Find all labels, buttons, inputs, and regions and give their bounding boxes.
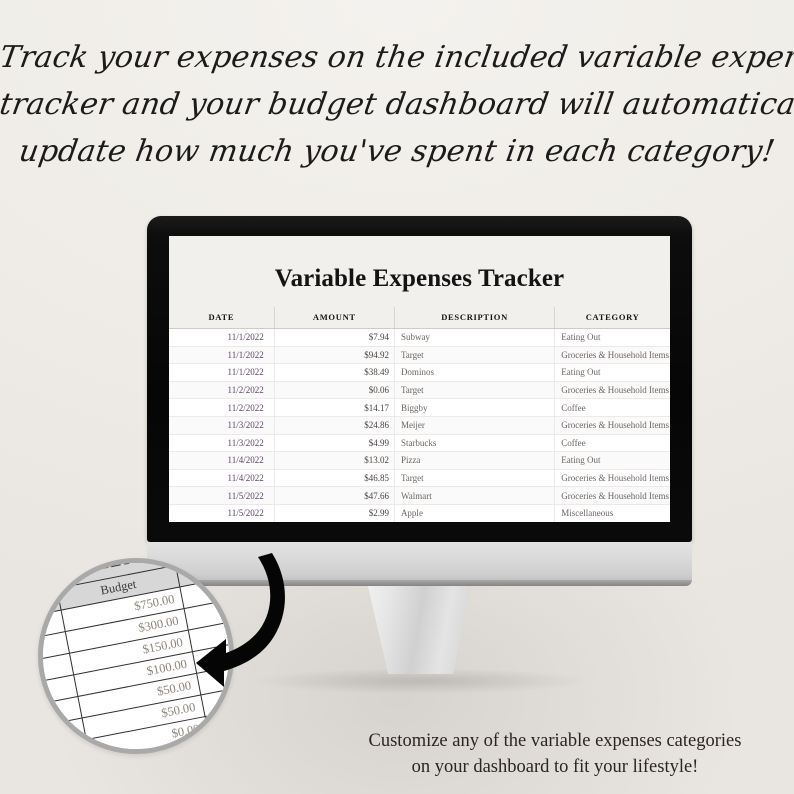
- table-row[interactable]: 11/5/2022$2.99AppleMiscellaneous: [169, 504, 670, 522]
- cell-description[interactable]: Target: [394, 469, 554, 487]
- cell-category[interactable]: Coffee: [555, 399, 670, 417]
- cell-date[interactable]: 11/3/2022: [169, 434, 274, 452]
- cell-description[interactable]: Walmart: [394, 487, 554, 505]
- cell-date[interactable]: 11/1/2022: [169, 364, 274, 382]
- monitor-bezel: Variable Expenses Tracker DATE AMOUNT DE…: [147, 216, 692, 542]
- desktop-monitor: Variable Expenses Tracker DATE AMOUNT DE…: [147, 216, 692, 586]
- cell-amount[interactable]: $14.17: [274, 399, 394, 417]
- table-row[interactable]: 11/2/2022$14.17BiggbyCoffee: [169, 399, 670, 417]
- expenses-table: DATE AMOUNT DESCRIPTION CATEGORY 11/1/20…: [169, 307, 670, 522]
- monitor-screen: Variable Expenses Tracker DATE AMOUNT DE…: [169, 236, 670, 522]
- table-header-row: DATE AMOUNT DESCRIPTION CATEGORY: [169, 307, 670, 329]
- cell-description[interactable]: Starbucks: [394, 434, 554, 452]
- table-row[interactable]: 11/4/2022$46.85TargetGroceries & Househo…: [169, 469, 670, 487]
- column-header-amount[interactable]: AMOUNT: [274, 307, 394, 329]
- cell-category[interactable]: Groceries & Household Items: [555, 381, 670, 399]
- cell-description[interactable]: Target: [394, 381, 554, 399]
- cell-description[interactable]: Apple: [394, 504, 554, 522]
- table-row[interactable]: 11/4/2022$13.02PizzaEating Out: [169, 452, 670, 470]
- cell-date[interactable]: 11/4/2022: [169, 469, 274, 487]
- cell-description[interactable]: Pizza: [394, 452, 554, 470]
- headline: Track your expenses on the included vari…: [0, 34, 794, 175]
- cell-date[interactable]: 11/2/2022: [169, 399, 274, 417]
- cell-amount[interactable]: $24.86: [274, 416, 394, 434]
- cell-description[interactable]: Subway: [394, 329, 554, 347]
- cell-category[interactable]: Eating Out: [555, 364, 670, 382]
- headline-line-1: Track your expenses on the included vari…: [0, 34, 794, 81]
- cell-category[interactable]: Coffee: [555, 434, 670, 452]
- cell-amount[interactable]: $2.99: [274, 504, 394, 522]
- cell-date[interactable]: 11/3/2022: [169, 416, 274, 434]
- table-row[interactable]: 11/1/2022$7.94SubwayEating Out: [169, 329, 670, 347]
- column-header-category[interactable]: CATEGORY: [555, 307, 670, 329]
- cell-description[interactable]: Target: [394, 346, 554, 364]
- cell-category[interactable]: Miscellaneous: [555, 504, 670, 522]
- cell-amount[interactable]: $0.06: [274, 381, 394, 399]
- cell-category[interactable]: Eating Out: [555, 452, 670, 470]
- cell-category[interactable]: Groceries & Household Items: [555, 346, 670, 364]
- cell-amount[interactable]: $94.92: [274, 346, 394, 364]
- cell-description[interactable]: Biggby: [394, 399, 554, 417]
- column-header-date[interactable]: DATE: [169, 307, 274, 329]
- cell-amount[interactable]: $7.94: [274, 329, 394, 347]
- cell-date[interactable]: 11/5/2022: [169, 487, 274, 505]
- curved-arrow-icon: [196, 543, 336, 713]
- cell-date[interactable]: 11/2/2022: [169, 381, 274, 399]
- cell-date[interactable]: 11/4/2022: [169, 452, 274, 470]
- page-title: Variable Expenses Tracker: [169, 236, 670, 307]
- table-row[interactable]: 11/3/2022$4.99StarbucksCoffee: [169, 434, 670, 452]
- cell-category[interactable]: Groceries & Household Items: [555, 416, 670, 434]
- cell-category[interactable]: Eating Out: [555, 329, 670, 347]
- cell-category[interactable]: Groceries & Household Items: [555, 487, 670, 505]
- spreadsheet: Variable Expenses Tracker DATE AMOUNT DE…: [169, 236, 670, 522]
- cell-amount[interactable]: $4.99: [274, 434, 394, 452]
- table-body: 11/1/2022$7.94SubwayEating Out11/1/2022$…: [169, 329, 670, 523]
- cell-date[interactable]: 11/1/2022: [169, 346, 274, 364]
- cell-description[interactable]: Meijer: [394, 416, 554, 434]
- cell-amount[interactable]: $38.49: [274, 364, 394, 382]
- cell-amount[interactable]: $13.02: [274, 452, 394, 470]
- column-header-description[interactable]: DESCRIPTION: [394, 307, 554, 329]
- cell-date[interactable]: 11/1/2022: [169, 329, 274, 347]
- cell-amount[interactable]: $47.66: [274, 487, 394, 505]
- table-row[interactable]: 11/1/2022$94.92TargetGroceries & Househo…: [169, 346, 670, 364]
- cell-description[interactable]: Dominos: [394, 364, 554, 382]
- table-row[interactable]: 11/1/2022$38.49DominosEating Out: [169, 364, 670, 382]
- table-row[interactable]: 11/5/2022$47.66WalmartGroceries & Househ…: [169, 487, 670, 505]
- table-row[interactable]: 11/2/2022$0.06TargetGroceries & Househol…: [169, 381, 670, 399]
- cell-amount[interactable]: $46.85: [274, 469, 394, 487]
- headline-line-2: tracker and your budget dashboard will a…: [0, 81, 794, 128]
- headline-line-3: update how much you've spent in each cat…: [0, 128, 794, 175]
- table-header: DATE AMOUNT DESCRIPTION CATEGORY: [169, 307, 670, 329]
- cell-date[interactable]: 11/5/2022: [169, 504, 274, 522]
- table-row[interactable]: 11/3/2022$24.86MeijerGroceries & Househo…: [169, 416, 670, 434]
- bottom-caption: Customize any of the variable expenses c…: [330, 728, 780, 780]
- cell-category[interactable]: Groceries & Household Items: [555, 469, 670, 487]
- caption-line-2: on your dashboard to fit your lifestyle!: [330, 754, 780, 780]
- caption-line-1: Customize any of the variable expenses c…: [330, 728, 780, 754]
